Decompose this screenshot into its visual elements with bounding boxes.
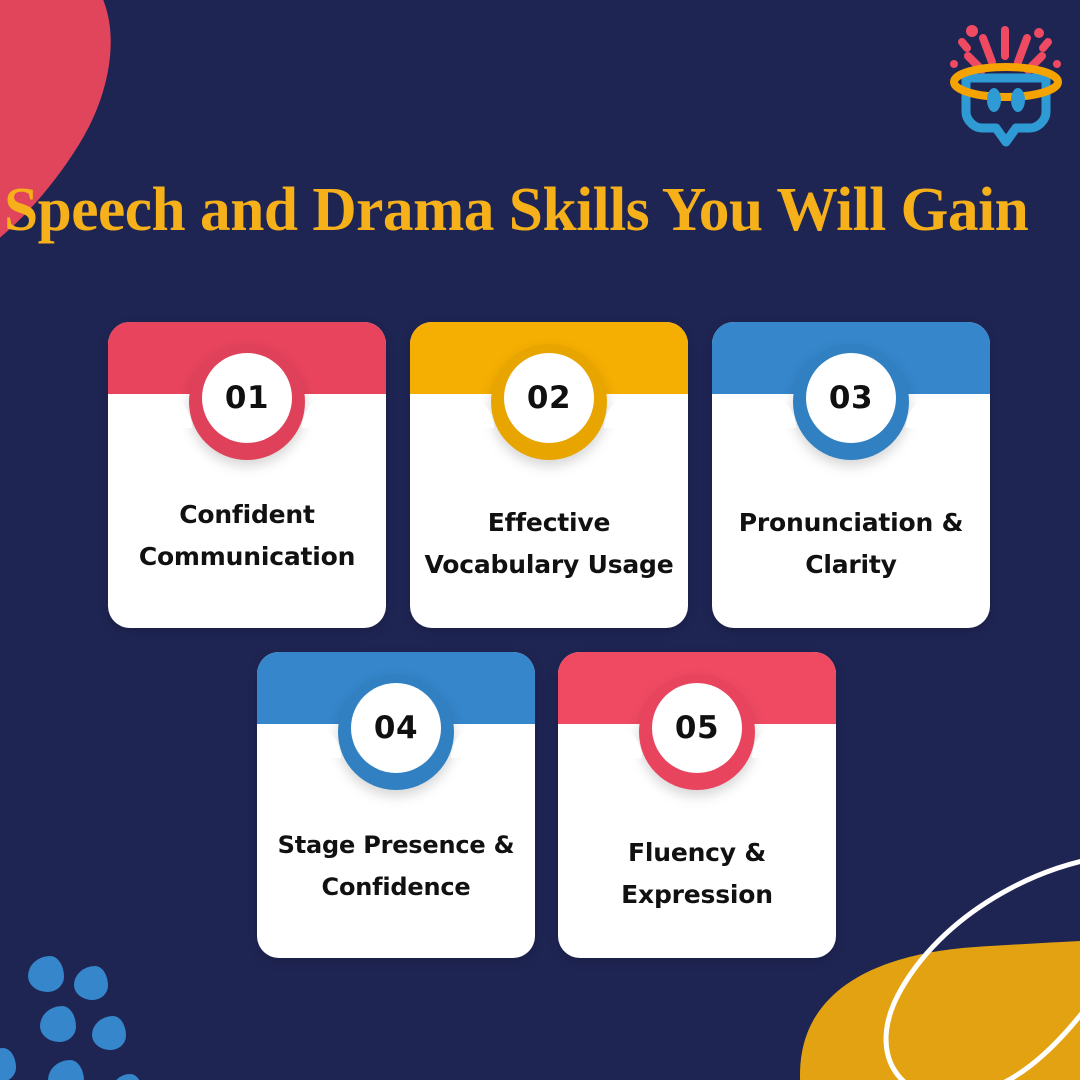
skill-card[interactable]: 05 Fluency & Expression — [558, 652, 836, 958]
page-title: Speech and Drama Skills You Will Gain — [4, 175, 1065, 245]
card-title: Effective Vocabulary Usage — [424, 502, 674, 586]
dot-shape — [0, 1048, 16, 1080]
band-shoulder-right — [906, 394, 990, 428]
card-number-badge: 02 — [504, 353, 594, 443]
skill-card[interactable]: 02 Effective Vocabulary Usage — [410, 322, 688, 628]
white-swoosh-line — [886, 855, 1080, 1080]
skill-card[interactable]: 04 Stage Presence & Confidence — [257, 652, 535, 958]
amber-blob-shape — [800, 939, 1080, 1080]
card-title: Pronunciation & Clarity — [726, 502, 976, 586]
dot-shape — [28, 956, 64, 992]
dot-shape — [40, 1006, 76, 1042]
skill-card[interactable]: 01 Confident Communication — [108, 322, 386, 628]
burst-dot — [966, 25, 978, 37]
card-number: 02 — [527, 380, 571, 416]
card-number-badge: 03 — [806, 353, 896, 443]
band-shoulder-left — [108, 394, 192, 428]
cards-row-bottom: 04 Stage Presence & Confidence 05 Fluenc… — [257, 652, 836, 958]
cards-row-top: 01 Confident Communication 02 Effective … — [108, 322, 990, 628]
band-shoulder-left — [410, 394, 494, 428]
card-number-badge: 04 — [351, 683, 441, 773]
dot-shape — [48, 1060, 84, 1080]
petal-decoration-top-left — [0, 0, 158, 323]
brand-logo[interactable] — [938, 12, 1074, 148]
card-title: Stage Presence & Confidence — [271, 824, 521, 908]
band-shoulder-right — [604, 394, 688, 428]
burst-dot — [1053, 60, 1061, 68]
card-number-badge: 05 — [652, 683, 742, 773]
card-title: Confident Communication — [122, 494, 372, 578]
infographic-canvas: Speech and Drama Skills You Will Gain 01… — [0, 0, 1080, 1080]
band-shoulder-right — [451, 724, 535, 758]
card-number-badge: 01 — [202, 353, 292, 443]
band-shoulder-right — [752, 724, 836, 758]
burst-dot — [1034, 28, 1044, 38]
speech-bubble-outline — [966, 78, 1046, 142]
card-number: 01 — [225, 380, 269, 416]
burst-dot — [950, 60, 958, 68]
card-number: 05 — [675, 710, 719, 746]
dot-shape — [112, 1074, 142, 1080]
card-number: 03 — [829, 380, 873, 416]
speech-bubble-burst-logo-icon — [938, 12, 1074, 148]
band-shoulder-right — [302, 394, 386, 428]
band-shoulder-left — [712, 394, 796, 428]
band-shoulder-left — [558, 724, 642, 758]
eye-right — [1011, 88, 1025, 112]
card-title: Fluency & Expression — [572, 832, 822, 916]
eye-left — [987, 88, 1001, 112]
skill-card[interactable]: 03 Pronunciation & Clarity — [712, 322, 990, 628]
dot-shape — [92, 1016, 126, 1050]
dots-decoration-bottom-left — [0, 944, 190, 1080]
card-number: 04 — [374, 710, 418, 746]
dot-shape — [74, 966, 108, 1000]
band-shoulder-left — [257, 724, 341, 758]
